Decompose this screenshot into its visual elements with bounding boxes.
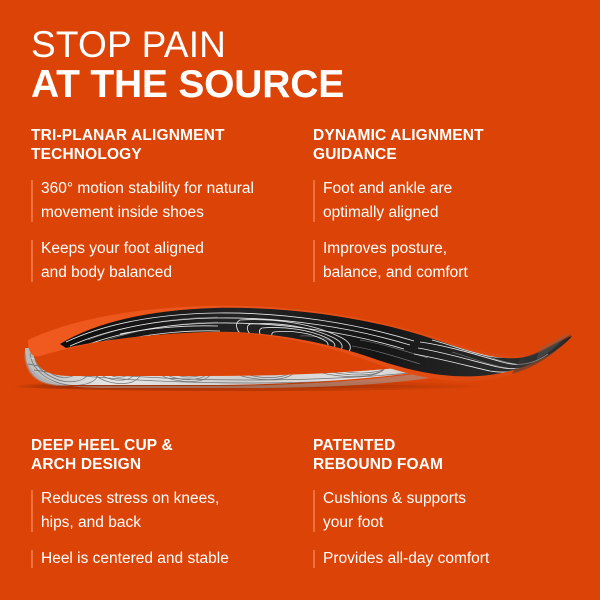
headline-line-2: AT THE SOURCE bbox=[31, 64, 571, 106]
feature-row-bottom: DEEP HEEL CUP & ARCH DESIGN Reduces stre… bbox=[0, 436, 600, 571]
list-item: Reduces stress on knees, hips, and back bbox=[31, 487, 288, 535]
bullet-text: Improves posture, balance, and comfort bbox=[323, 237, 588, 285]
list-item: Provides all-day comfort bbox=[313, 547, 588, 571]
product-image-insole bbox=[0, 296, 600, 416]
feature-block-deep-heel-cup-arch-design: DEEP HEEL CUP & ARCH DESIGN Reduces stre… bbox=[0, 436, 300, 571]
feature-bullet-list: Cushions & supports your foot Provides a… bbox=[313, 487, 588, 571]
feature-block-tri-planar-alignment-technology: TRI-PLANAR ALIGNMENT TECHNOLOGY 360° mot… bbox=[0, 126, 300, 285]
list-item: Heel is centered and stable bbox=[31, 547, 288, 571]
promo-poster: STOP PAIN AT THE SOURCE TRI-PLANAR ALIGN… bbox=[0, 0, 600, 600]
feature-block-dynamic-alignment-guidance: DYNAMIC ALIGNMENT GUIDANCE Foot and ankl… bbox=[300, 126, 600, 285]
feature-bullet-list: 360° motion stability for natural moveme… bbox=[31, 177, 288, 285]
list-item: Improves posture, balance, and comfort bbox=[313, 237, 588, 285]
bullet-text: Reduces stress on knees, hips, and back bbox=[41, 487, 288, 535]
feature-title: DYNAMIC ALIGNMENT GUIDANCE bbox=[313, 126, 588, 164]
bullet-text: Cushions & supports your foot bbox=[323, 487, 588, 535]
feature-bullet-list: Foot and ankle are optimally aligned Imp… bbox=[313, 177, 588, 285]
bullet-text: 360° motion stability for natural moveme… bbox=[41, 177, 288, 225]
feature-row-top: TRI-PLANAR ALIGNMENT TECHNOLOGY 360° mot… bbox=[0, 126, 600, 285]
list-item: Keeps your foot aligned and body balance… bbox=[31, 237, 288, 285]
page-title: STOP PAIN AT THE SOURCE bbox=[31, 26, 571, 106]
feature-title: PATENTED REBOUND FOAM bbox=[313, 436, 588, 474]
bullet-text: Provides all-day comfort bbox=[323, 547, 588, 571]
headline-line-1: STOP PAIN bbox=[31, 26, 571, 64]
bullet-text: Foot and ankle are optimally aligned bbox=[323, 177, 588, 225]
bullet-text: Keeps your foot aligned and body balance… bbox=[41, 237, 288, 285]
bullet-text: Heel is centered and stable bbox=[41, 547, 288, 571]
list-item: 360° motion stability for natural moveme… bbox=[31, 177, 288, 225]
feature-block-patented-rebound-foam: PATENTED REBOUND FOAM Cushions & support… bbox=[300, 436, 600, 571]
list-item: Foot and ankle are optimally aligned bbox=[313, 177, 588, 225]
feature-bullet-list: Reduces stress on knees, hips, and back … bbox=[31, 487, 288, 571]
list-item: Cushions & supports your foot bbox=[313, 487, 588, 535]
feature-title: TRI-PLANAR ALIGNMENT TECHNOLOGY bbox=[31, 126, 288, 164]
feature-title: DEEP HEEL CUP & ARCH DESIGN bbox=[31, 436, 288, 474]
